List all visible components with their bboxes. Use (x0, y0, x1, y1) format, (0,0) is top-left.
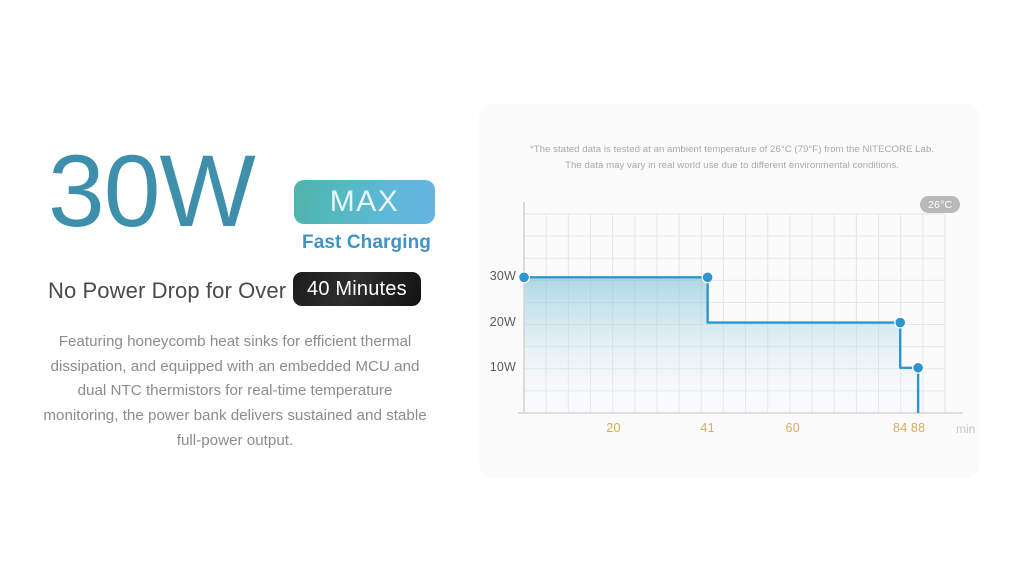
page-title: 30W (48, 140, 255, 242)
chart-y-tick-20: 20W (476, 315, 516, 329)
body-copy: Featuring honeycomb heat sinks for effic… (40, 330, 430, 453)
max-badge-block: MAX Fast Charging (294, 180, 439, 254)
chart-y-tick-30: 30W (476, 269, 516, 283)
chart-x-tick-20: 20 (599, 421, 629, 435)
minutes-badge: 40 Minutes (293, 272, 421, 306)
chart-x-tick-41: 41 (693, 421, 723, 435)
max-badge-label: MAX (330, 187, 400, 217)
chart-y-tick-10: 10W (476, 360, 516, 374)
chart-x-axis-unit: min (956, 422, 975, 436)
fast-charging-label: Fast Charging (294, 232, 439, 254)
minutes-badge-label: 40 Minutes (307, 278, 407, 301)
chart-x-tick-88: 88 (903, 421, 933, 435)
subline-text: No Power Drop for Over (48, 278, 286, 304)
chart-card: *The stated data is tested at an ambient… (479, 104, 980, 478)
chart-x-tick-60: 60 (778, 421, 808, 435)
left-content-column: 30W MAX Fast Charging No Power Drop for … (0, 150, 470, 450)
chart-area-fill (524, 277, 918, 413)
headline-row: 30W MAX Fast Charging (48, 162, 448, 262)
promo-page: 30W MAX Fast Charging No Power Drop for … (0, 0, 1024, 576)
subline-row: No Power Drop for Over 40 Minutes (48, 272, 448, 312)
max-badge: MAX (294, 180, 435, 224)
